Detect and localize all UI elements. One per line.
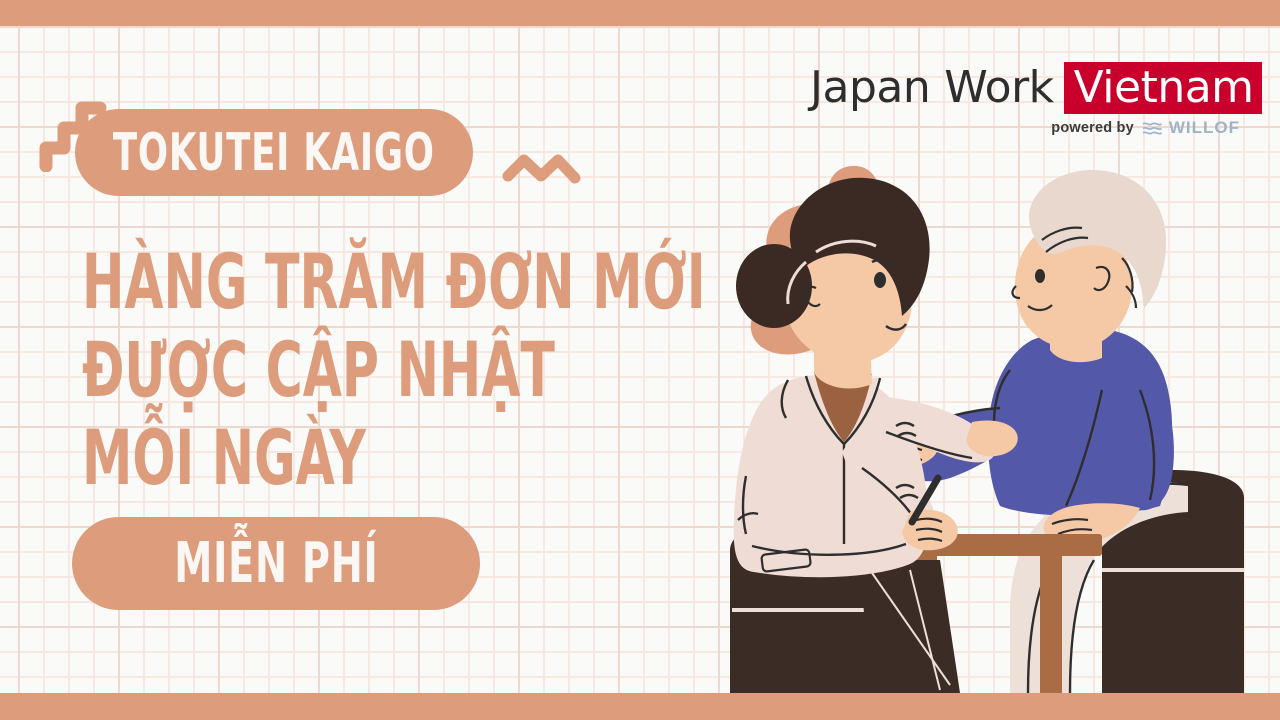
- powered-by-label: powered by: [1051, 120, 1134, 136]
- logo-japan-work-text: Japan: [810, 62, 930, 114]
- willof-wordmark: WILLOF: [1169, 118, 1240, 138]
- logo-vietnam-badge: Vietnam: [1064, 62, 1262, 114]
- badge-tokutei-kaigo[interactable]: TOKUTEI KAIGO: [75, 109, 473, 196]
- waves-icon: [1142, 121, 1164, 136]
- logo-work-text: Work: [944, 62, 1053, 114]
- headline-line-3: MỖI NGÀY: [82, 414, 556, 502]
- badge-mien-phi[interactable]: MIỄN PHÍ: [72, 517, 480, 610]
- badge-mien-phi-label: MIỄN PHÍ: [174, 536, 378, 592]
- logo-wordmark: Japan Work Vietnam: [810, 62, 1240, 114]
- badge-tokutei-kaigo-label: TOKUTEI KAIGO: [113, 127, 435, 179]
- nurse-and-elderly-patient-illustration: [710, 140, 1280, 695]
- headline-line-1: HÀNG TRĂM ĐƠN MỚI: [82, 238, 556, 326]
- zigzag-squiggle-icon: [500, 148, 590, 192]
- banner-canvas: Japan Work Vietnam powered by WILLOF TOK…: [0, 0, 1280, 720]
- bottom-accent-bar: [0, 693, 1280, 720]
- japan-work-vietnam-logo[interactable]: Japan Work Vietnam powered by WILLOF: [810, 62, 1240, 147]
- headline-block: HÀNG TRĂM ĐƠN MỚI ĐƯỢC CẬP NHẬT MỖI NGÀY: [82, 238, 722, 502]
- headline-line-2: ĐƯỢC CẬP NHẬT: [82, 326, 556, 414]
- top-accent-bar: [0, 0, 1280, 26]
- logo-powered-by-row: powered by WILLOF: [810, 118, 1240, 138]
- patient-head: [1013, 170, 1167, 362]
- nurse-head: [736, 178, 930, 389]
